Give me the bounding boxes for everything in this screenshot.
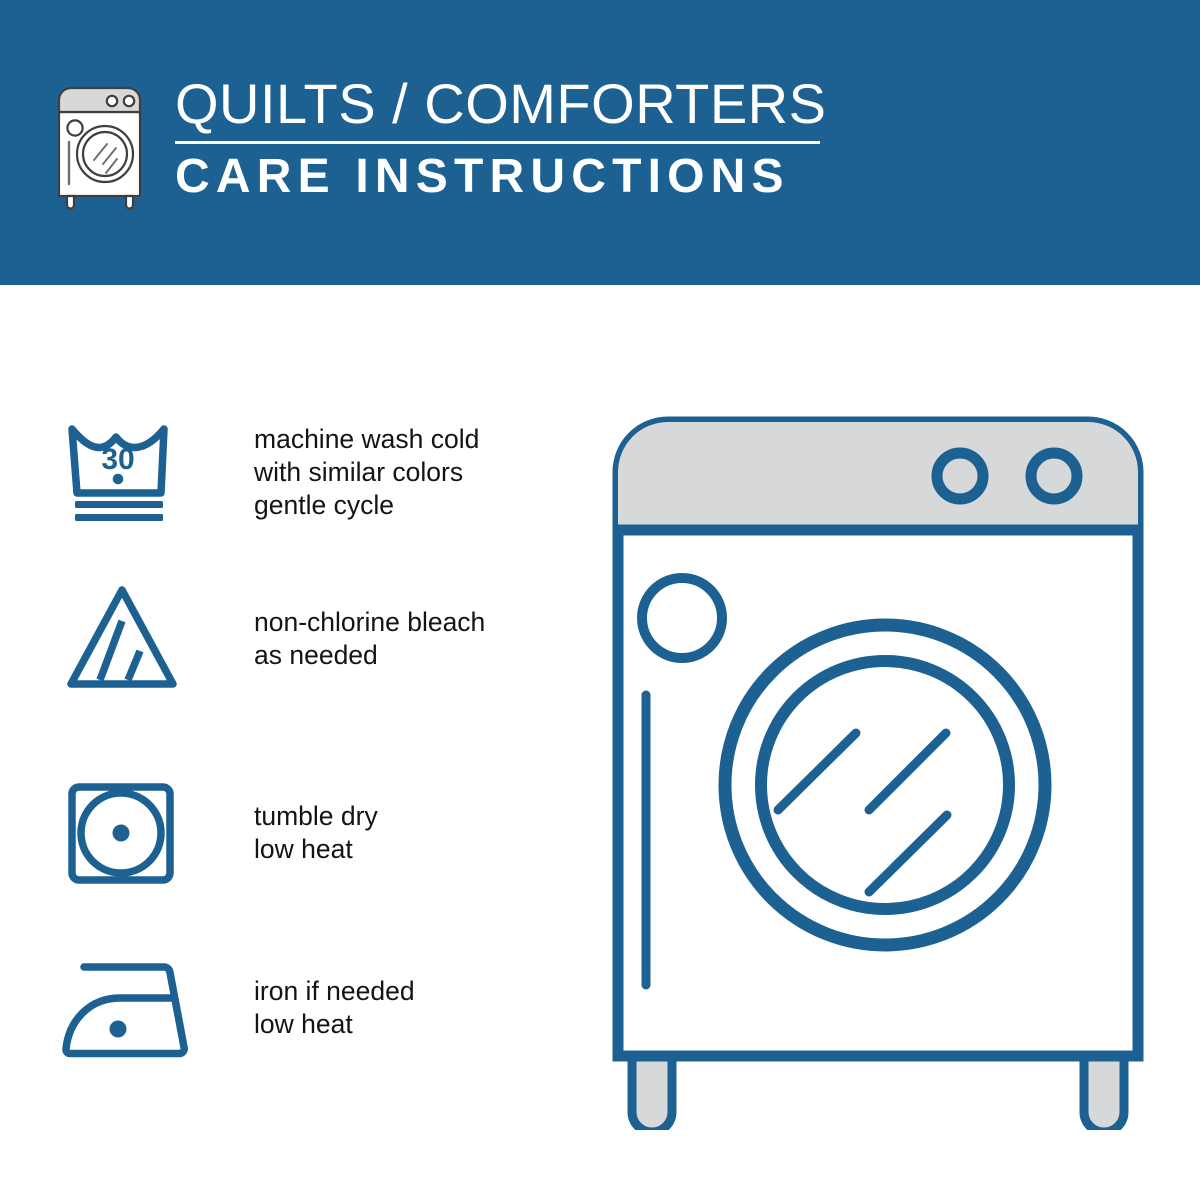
care-row-label: iron if needed low heat [254,975,415,1041]
leg-right [1084,1050,1124,1130]
washing-machine-icon [50,78,153,210]
page-title: QUILTS / COMFORTERS [175,74,826,134]
non-chlorine-bleach-triangle-icon [60,581,190,696]
front-load-washing-machine-illustration [596,400,1162,1130]
care-row: non-chlorine bleach as needed [60,581,530,696]
care-row-label: machine wash cold with similar colors ge… [254,423,479,522]
care-row-label: tumble dry low heat [254,800,378,866]
care-instructions-page: QUILTS / COMFORTERS CARE INSTRUCTIONS 30… [0,0,1200,1200]
washer-svg [596,400,1162,1130]
tumble-dry-low-icon [60,775,190,890]
care-instructions-list: 30 machine wash cold with similar colors… [0,285,560,1200]
page-subtitle: CARE INSTRUCTIONS [175,150,826,204]
page-header: QUILTS / COMFORTERS CARE INSTRUCTIONS [0,0,1200,285]
iron-low-heat-icon [60,950,190,1065]
care-row: tumble dry low heat [60,775,530,890]
detergent-dispenser-circle[interactable] [642,578,722,658]
care-row: iron if needed low heat [60,950,530,1065]
title-divider [175,141,820,144]
knob-left[interactable] [937,453,983,499]
care-row: 30 machine wash cold with similar colors… [60,415,530,530]
knob-right[interactable] [1031,453,1077,499]
machine-wash-tub-icon: 30 [60,415,190,530]
leg-left [632,1050,672,1130]
wash-temp-label: 30 [101,443,134,476]
care-row-label: non-chlorine bleach as needed [254,606,485,672]
title-block: QUILTS / COMFORTERS CARE INSTRUCTIONS [175,74,826,204]
header-content: QUILTS / COMFORTERS CARE INSTRUCTIONS [50,74,826,210]
